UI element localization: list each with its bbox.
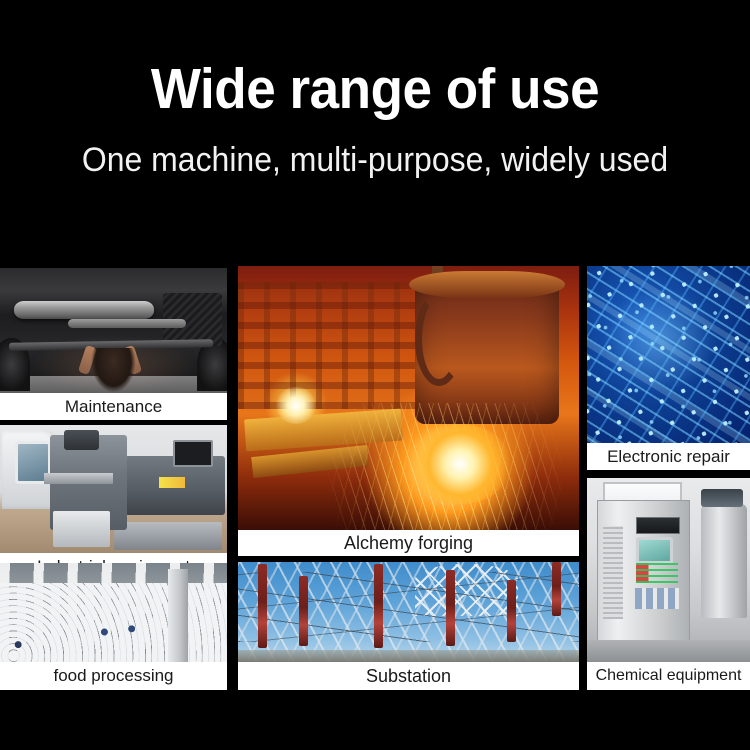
page-title: Wide range of use <box>26 57 724 121</box>
gallery-tile-electronic-repair[interactable]: Electronic repair <box>587 266 750 470</box>
gallery-tile-food-processing[interactable]: food processing <box>0 563 227 690</box>
food-processing-photo <box>0 563 227 662</box>
maintenance-caption: Maintenance <box>0 393 227 420</box>
page-subtitle: One machine, multi-purpose, widely used <box>23 140 728 180</box>
industrial-equipment-photo <box>0 425 227 553</box>
substation-photo <box>238 562 579 662</box>
header: Wide range of use One machine, multi-pur… <box>0 0 750 250</box>
image-gallery: Maintenance Industrial equipment <box>0 250 750 750</box>
promo-banner: Wide range of use One machine, multi-pur… <box>0 0 750 750</box>
electronic-repair-photo <box>587 266 750 443</box>
food-processing-caption: food processing <box>0 662 227 690</box>
electronic-repair-caption: Electronic repair <box>587 443 750 470</box>
alchemy-forging-photo <box>238 266 579 530</box>
chemical-equipment-caption: Chemical equipment <box>587 662 750 690</box>
maintenance-photo <box>0 268 227 393</box>
substation-caption: Substation <box>238 662 579 690</box>
alchemy-forging-caption: Alchemy forging <box>238 530 579 556</box>
gallery-tile-maintenance[interactable]: Maintenance <box>0 268 227 420</box>
gallery-tile-chemical-equipment[interactable]: Chemical equipment <box>587 478 750 690</box>
chemical-equipment-photo <box>587 478 750 662</box>
gallery-tile-industrial-equipment[interactable]: Industrial equipment <box>0 425 227 580</box>
gallery-tile-substation[interactable]: Substation <box>238 562 579 690</box>
gallery-tile-alchemy-forging[interactable]: Alchemy forging <box>238 266 579 556</box>
